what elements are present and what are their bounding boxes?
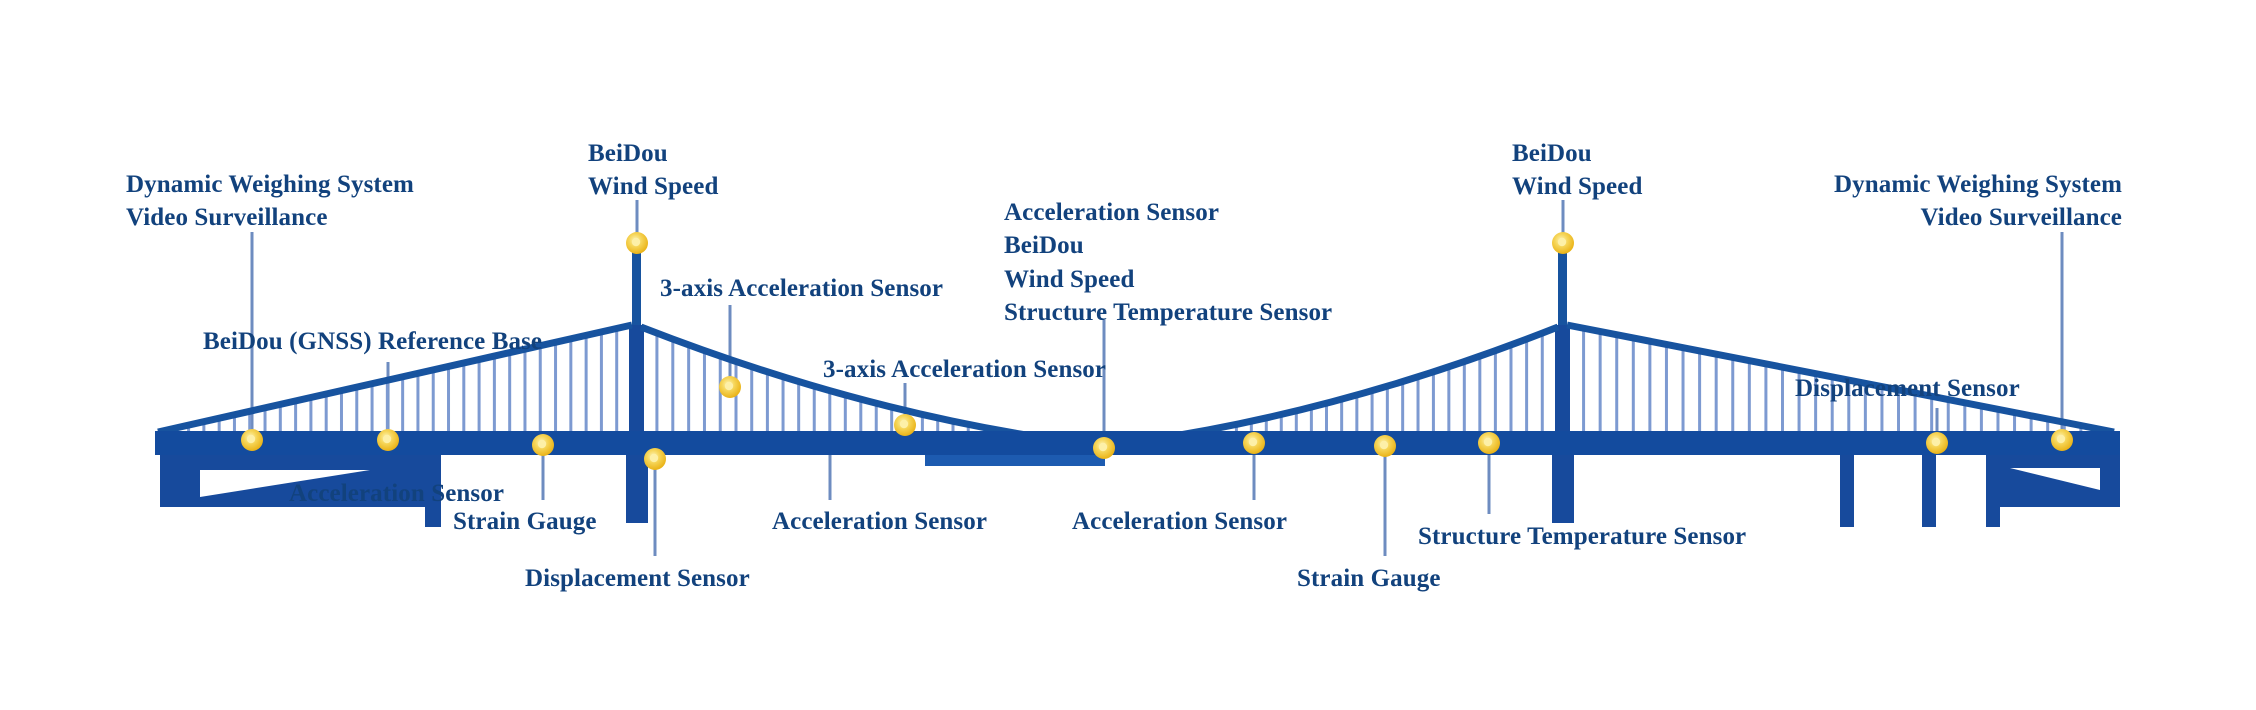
right-tower-spire	[1558, 247, 1567, 331]
label-accel-center: Acceleration Sensor	[772, 505, 987, 538]
right-abutment-edge	[2110, 455, 2120, 507]
sensor-dot-core	[383, 435, 391, 443]
sensor-marker[interactable]	[2051, 429, 2073, 451]
right-tower-pier	[1552, 453, 1574, 523]
right-approach-pier-a	[1840, 455, 1854, 527]
left-tower-pier	[626, 453, 648, 523]
sensor-dot-core	[2057, 435, 2065, 443]
label-strain-gauge-left-line-0: Strain Gauge	[453, 505, 597, 538]
main-cable-right-mainspan	[1104, 327, 1558, 446]
label-displacement-right: Displacement Sensor	[1795, 372, 2020, 405]
label-beidou-windspeed-right: BeiDouWind Speed	[1512, 137, 1642, 204]
main-cable-left-mainspan	[641, 327, 1104, 446]
label-center-stack-line-0: Acceleration Sensor	[1004, 196, 1332, 229]
sensor-dot-core	[650, 454, 658, 462]
right-abutment	[1840, 455, 2120, 527]
left-tower-shaft	[629, 325, 644, 433]
label-dws-right-line-0: Dynamic Weighing System	[1810, 168, 2122, 201]
right-approach-pier-b	[1922, 455, 1936, 527]
label-accel-right: Acceleration Sensor	[1072, 505, 1287, 538]
right-tower-shaft	[1555, 325, 1570, 433]
right-tower	[1552, 247, 1574, 523]
sensor-dot-core	[1558, 238, 1566, 246]
label-beidou-windspeed-left-line-0: BeiDou	[588, 137, 718, 170]
left-tower-spire	[632, 247, 641, 331]
label-strain-gauge-left: Strain Gauge	[453, 505, 597, 538]
bridge-deck	[155, 431, 2120, 455]
sensor-dot-core	[538, 440, 546, 448]
label-structure-temp-right-line-0: Structure Temperature Sensor	[1418, 520, 1746, 553]
label-center-stack-line-3: Structure Temperature Sensor	[1004, 296, 1332, 329]
label-dws-left-line-1: Video Surveillance	[126, 201, 414, 234]
sensor-marker[interactable]	[1093, 437, 1115, 459]
bridge-sensor-diagram: Dynamic Weighing SystemVideo Surveillanc…	[0, 0, 2256, 710]
sensor-dot-core	[247, 435, 255, 443]
sensor-marker[interactable]	[1478, 432, 1500, 454]
sensor-marker[interactable]	[894, 414, 916, 436]
sensor-dot-core	[632, 238, 640, 246]
label-3axis-left-line-0: 3-axis Acceleration Sensor	[660, 272, 943, 305]
sensor-dot-core	[1380, 441, 1388, 449]
sensor-marker[interactable]	[1926, 432, 1948, 454]
sensor-marker[interactable]	[1552, 232, 1574, 254]
label-dws-right: Dynamic Weighing SystemVideo Surveillanc…	[1810, 168, 2122, 235]
label-accel-right-line-0: Acceleration Sensor	[1072, 505, 1287, 538]
label-dws-right-line-1: Video Surveillance	[1810, 201, 2122, 234]
sensor-marker[interactable]	[377, 429, 399, 451]
label-center-stack: Acceleration SensorBeiDouWind SpeedStruc…	[1004, 196, 1332, 329]
sensor-dot-core	[1249, 438, 1257, 446]
sensor-marker[interactable]	[241, 429, 263, 451]
label-3axis-left: 3-axis Acceleration Sensor	[660, 272, 943, 305]
label-beidou-windspeed-left-line-1: Wind Speed	[588, 170, 718, 203]
label-structure-temp-right: Structure Temperature Sensor	[1418, 520, 1746, 553]
label-dws-left-line-0: Dynamic Weighing System	[126, 168, 414, 201]
sensor-dot-core	[1099, 443, 1107, 451]
deck-midspan-stiffening	[925, 455, 1105, 466]
label-3axis-right: 3-axis Acceleration Sensor	[823, 353, 1106, 386]
label-accel-center-line-0: Acceleration Sensor	[772, 505, 987, 538]
label-strain-gauge-right: Strain Gauge	[1297, 562, 1441, 595]
sensor-marker[interactable]	[719, 376, 741, 398]
label-gnss-left: BeiDou (GNSS) Reference Base	[203, 325, 542, 358]
sensor-dot-core	[1484, 438, 1492, 446]
label-gnss-left-line-0: BeiDou (GNSS) Reference Base	[203, 325, 542, 358]
sensor-marker[interactable]	[532, 434, 554, 456]
label-center-stack-line-2: Wind Speed	[1004, 263, 1332, 296]
label-displacement-right-line-0: Displacement Sensor	[1795, 372, 2020, 405]
label-center-stack-line-1: BeiDou	[1004, 229, 1332, 262]
sensor-marker[interactable]	[644, 448, 666, 470]
sensor-dot-core	[725, 382, 733, 390]
sensor-dot-core	[1932, 438, 1940, 446]
sensor-marker[interactable]	[626, 232, 648, 254]
label-3axis-right-line-0: 3-axis Acceleration Sensor	[823, 353, 1106, 386]
sensor-dot-core	[900, 420, 908, 428]
label-displacement-left-line-0: Displacement Sensor	[525, 562, 750, 595]
label-beidou-windspeed-right-line-1: Wind Speed	[1512, 170, 1642, 203]
sensor-marker[interactable]	[1374, 435, 1396, 457]
label-beidou-windspeed-left: BeiDouWind Speed	[588, 137, 718, 204]
sensor-marker[interactable]	[1243, 432, 1265, 454]
left-tower	[626, 247, 648, 523]
label-beidou-windspeed-right-line-0: BeiDou	[1512, 137, 1642, 170]
label-strain-gauge-right-line-0: Strain Gauge	[1297, 562, 1441, 595]
label-dws-left: Dynamic Weighing SystemVideo Surveillanc…	[126, 168, 414, 235]
label-displacement-left: Displacement Sensor	[525, 562, 750, 595]
